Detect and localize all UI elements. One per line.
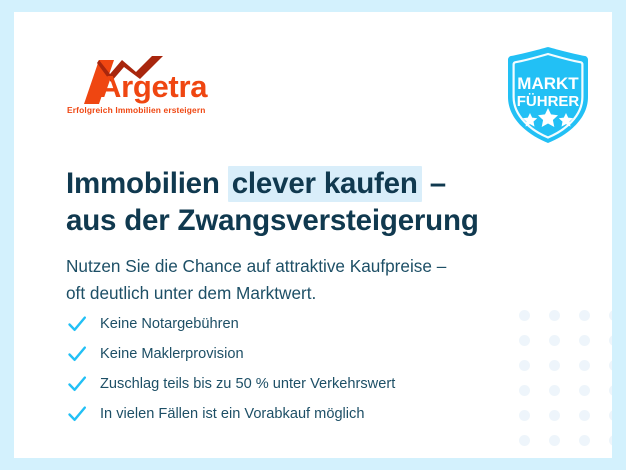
badge-line2: FÜHRER xyxy=(517,93,580,110)
decoration-dot xyxy=(579,410,590,421)
subheading: Nutzen Sie die Chance auf attraktive Kau… xyxy=(66,253,546,306)
list-item-label: Keine Notargebühren xyxy=(100,317,239,332)
headline-line1-before: Immobilien xyxy=(66,167,228,200)
subheading-line1: Nutzen Sie die Chance auf attraktive Kau… xyxy=(66,256,446,276)
check-icon xyxy=(66,373,88,395)
check-icon xyxy=(66,343,88,365)
badge-line1: MARKT xyxy=(517,74,579,93)
headline-highlight: clever kaufen xyxy=(228,166,422,202)
decoration-dot xyxy=(579,360,590,371)
decoration-dot xyxy=(549,435,560,446)
decoration-dot xyxy=(609,385,612,396)
decoration-dot xyxy=(549,310,560,321)
decoration-dot xyxy=(579,385,590,396)
list-item: Zuschlag teils bis zu 50 % unter Verkehr… xyxy=(66,369,536,399)
decoration-dot xyxy=(609,335,612,346)
headline-line2: aus der Zwangsversteigerung xyxy=(66,203,536,239)
check-icon xyxy=(66,313,88,335)
list-item: Keine Notargebühren xyxy=(66,309,536,339)
market-leader-badge: MARKT FÜHRER xyxy=(501,45,595,145)
decoration-dot xyxy=(519,435,530,446)
decoration-dot xyxy=(549,335,560,346)
list-item: In vielen Fällen ist ein Vorabkauf mögli… xyxy=(66,399,536,429)
list-item-label: In vielen Fällen ist ein Vorabkauf mögli… xyxy=(100,407,364,422)
decoration-dot xyxy=(549,360,560,371)
decoration-dot xyxy=(609,360,612,371)
banner-card: Argetra Erfolgreich Immobilien ersteiger… xyxy=(14,12,612,458)
decoration-dot xyxy=(549,410,560,421)
decoration-dot xyxy=(549,385,560,396)
decoration-dot xyxy=(579,310,590,321)
decoration-dot xyxy=(609,410,612,421)
check-icon xyxy=(66,403,88,425)
benefits-list: Keine NotargebührenKeine Maklerprovision… xyxy=(66,309,536,429)
subheading-line2: oft deutlich unter dem Marktwert. xyxy=(66,280,546,307)
decoration-dot xyxy=(579,335,590,346)
list-item: Keine Maklerprovision xyxy=(66,339,536,369)
argetra-logo[interactable]: Argetra Erfolgreich Immobilien ersteiger… xyxy=(66,56,236,122)
headline-line1-after: – xyxy=(422,167,446,200)
decoration-dot xyxy=(579,435,590,446)
list-item-label: Keine Maklerprovision xyxy=(100,347,244,362)
headline: Immobilien clever kaufen – aus der Zwang… xyxy=(66,166,536,239)
list-item-label: Zuschlag teils bis zu 50 % unter Verkehr… xyxy=(100,377,395,392)
logo-tagline: Erfolgreich Immobilien ersteigern xyxy=(67,105,206,115)
advertisement-banner: Argetra Erfolgreich Immobilien ersteiger… xyxy=(0,0,626,470)
logo-wordmark: Argetra xyxy=(99,71,207,102)
decoration-dot xyxy=(609,435,612,446)
decoration-dot xyxy=(609,310,612,321)
